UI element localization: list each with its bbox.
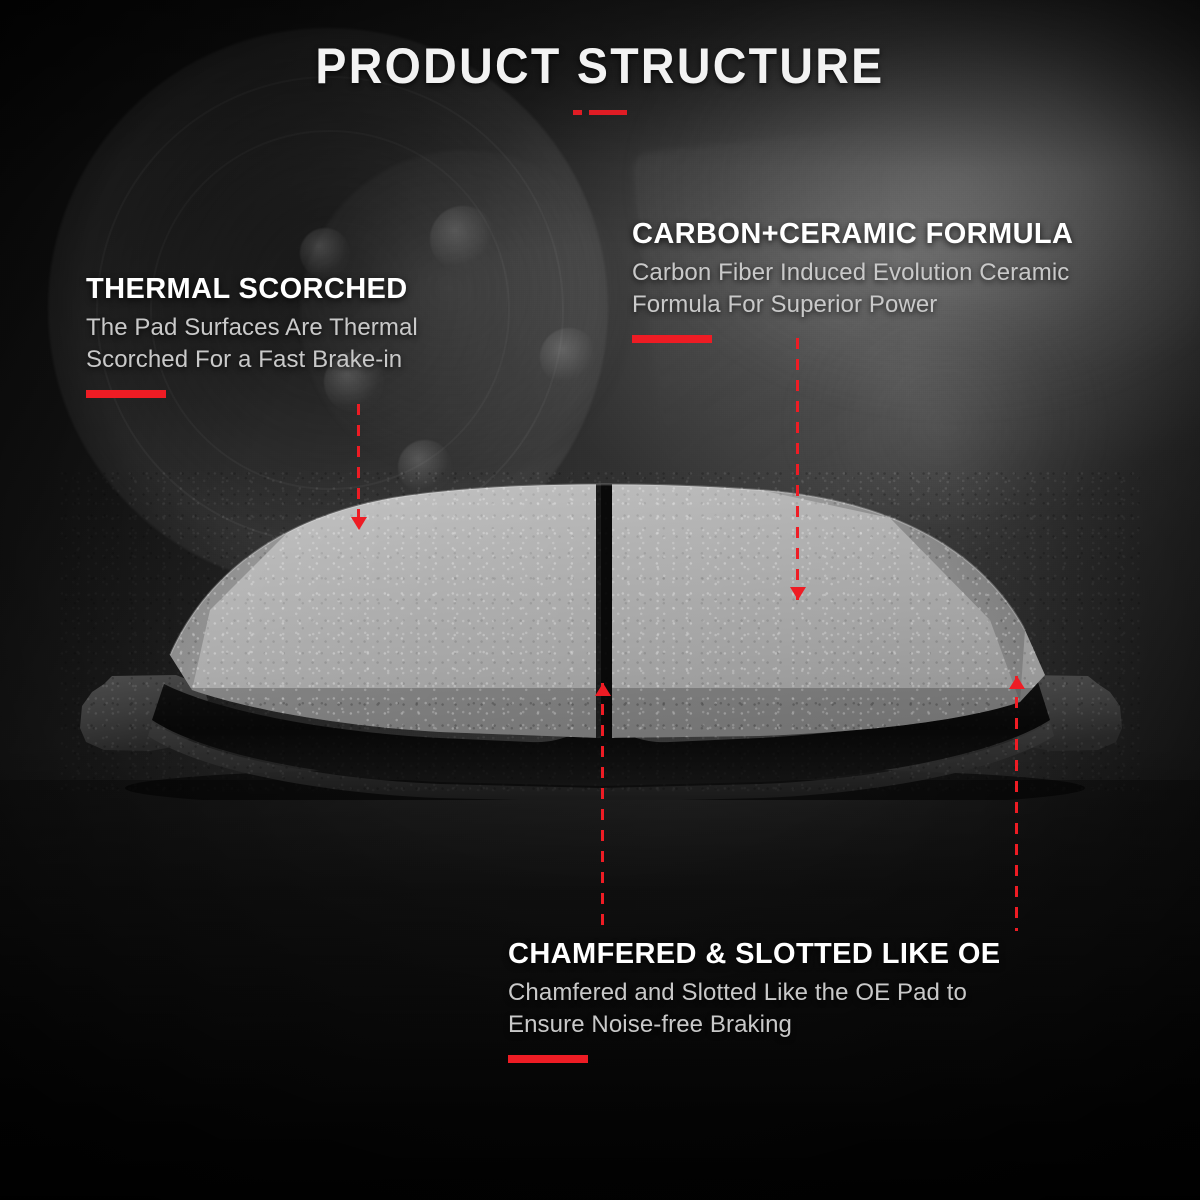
chamfered-slot-leader-line (601, 683, 604, 931)
callout-accent-bar (632, 335, 712, 343)
title-accent-bar (589, 110, 627, 115)
callout-body-line: Scorched For a Fast Brake-in (86, 344, 418, 376)
page-title-wrap: PRODUCT STRUCTURE (0, 38, 1200, 94)
callout-body-line: Ensure Noise-free Braking (508, 1009, 1001, 1041)
brake-pad-illustration (60, 470, 1140, 800)
title-accent-rule (0, 110, 1200, 118)
callout-heading: CARBON+CERAMIC FORMULA (632, 217, 1073, 251)
thermal-scorched-leader-line (357, 404, 360, 530)
callout-chamfered-slotted-like-oe: CHAMFERED & SLOTTED LIKE OE Chamfered an… (508, 937, 1001, 1063)
leader-arrow-down-icon (351, 517, 367, 530)
leader-arrow-up-icon (595, 683, 611, 696)
callout-body-line: Formula For Superior Power (632, 289, 1073, 321)
callout-body-line: Carbon Fiber Induced Evolution Ceramic (632, 257, 1073, 289)
callout-heading: CHAMFERED & SLOTTED LIKE OE (508, 937, 1001, 971)
title-accent-dash (573, 110, 582, 115)
leader-dash (601, 683, 604, 931)
page-title: PRODUCT STRUCTURE (315, 38, 884, 94)
callout-body: Carbon Fiber Induced Evolution Ceramic F… (632, 257, 1073, 321)
callout-thermal-scorched: THERMAL SCORCHED The Pad Surfaces Are Th… (86, 272, 418, 398)
carbon-ceramic-leader-line (796, 338, 799, 600)
leader-dash (796, 338, 799, 600)
callout-body-line: Chamfered and Slotted Like the OE Pad to (508, 977, 1001, 1009)
callout-carbon-ceramic-formula: CARBON+CERAMIC FORMULA Carbon Fiber Indu… (632, 217, 1073, 343)
chamfered-edge-leader-line (1015, 676, 1018, 931)
leader-arrow-down-icon (790, 587, 806, 600)
product-structure-infographic: PRODUCT STRUCTURE (0, 0, 1200, 1200)
callout-body: The Pad Surfaces Are Thermal Scorched Fo… (86, 312, 418, 376)
callout-accent-bar (86, 390, 166, 398)
brake-pad-image (60, 470, 1140, 800)
leader-dash (357, 404, 360, 530)
callout-heading: THERMAL SCORCHED (86, 272, 418, 306)
callout-body: Chamfered and Slotted Like the OE Pad to… (508, 977, 1001, 1041)
leader-dash (1015, 676, 1018, 931)
callout-body-line: The Pad Surfaces Are Thermal (86, 312, 418, 344)
leader-arrow-up-icon (1009, 676, 1025, 689)
callout-accent-bar (508, 1055, 588, 1063)
